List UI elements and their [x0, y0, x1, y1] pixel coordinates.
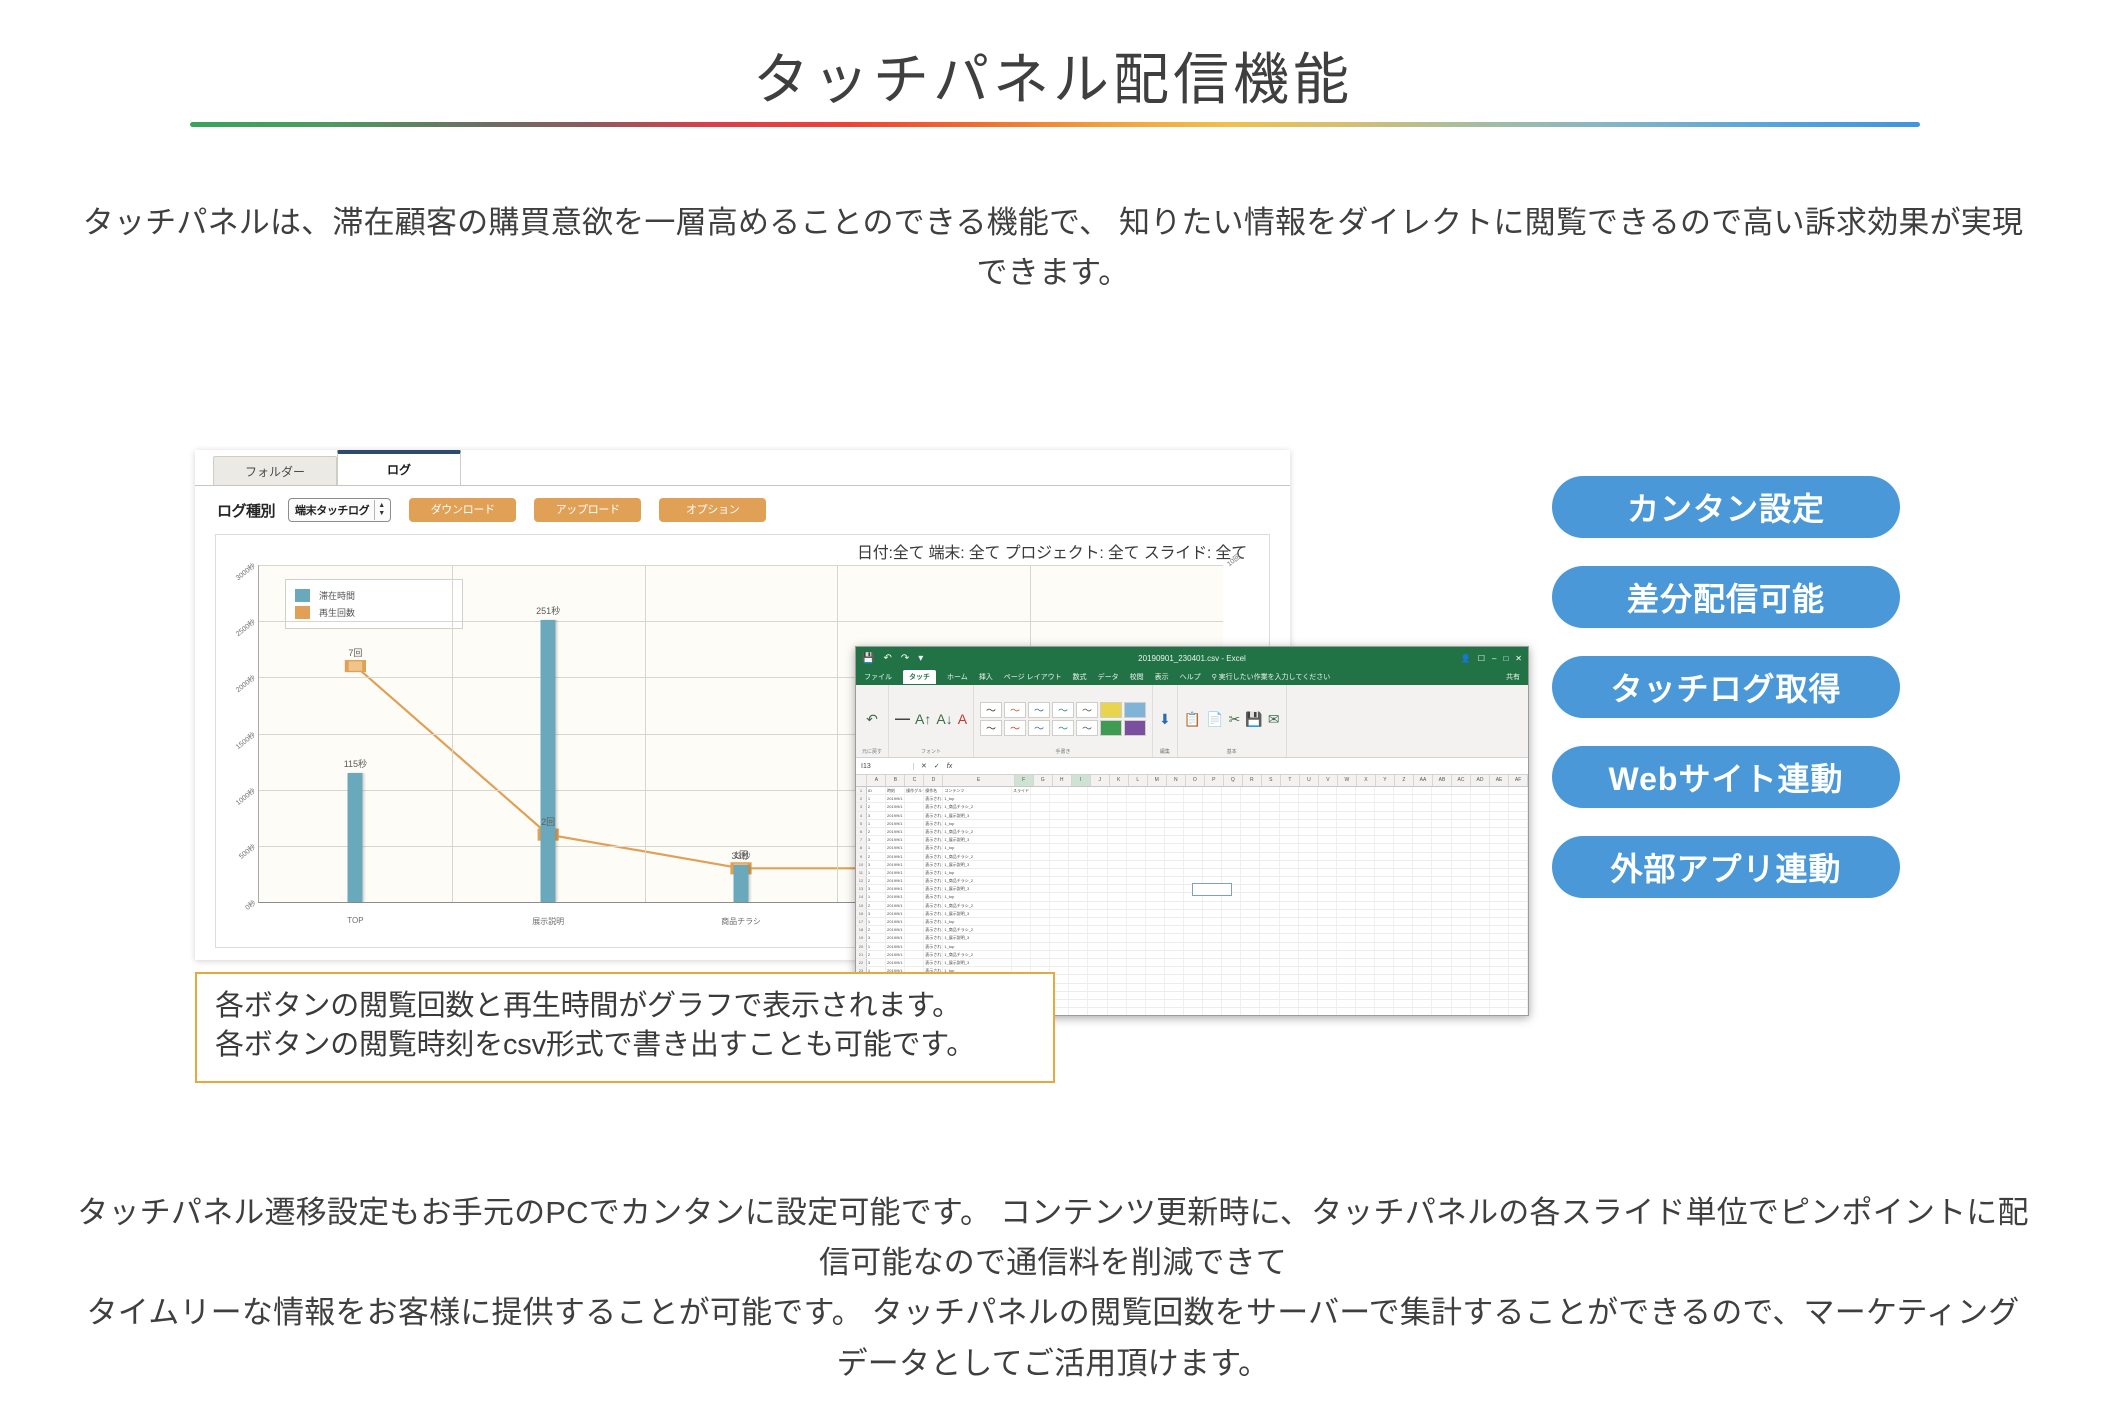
excel-cell[interactable]: [1012, 861, 1031, 868]
excel-cell[interactable]: [1318, 951, 1337, 958]
excel-cell[interactable]: [1280, 902, 1299, 909]
excel-cell[interactable]: [1260, 910, 1279, 917]
excel-cell[interactable]: [1127, 975, 1146, 982]
excel-cell[interactable]: 表示される Touch panel_etcpath000_1: [924, 918, 943, 925]
excel-cell[interactable]: [1108, 967, 1127, 974]
excel-cell[interactable]: 2019/9/1 10:31:52: [886, 885, 905, 892]
excel-cell[interactable]: [1509, 992, 1528, 999]
excel-ribbon-tab[interactable]: タッチ: [903, 670, 936, 684]
excel-cell[interactable]: [1394, 910, 1413, 917]
excel-cell[interactable]: [1299, 795, 1318, 802]
excel-cell[interactable]: [1509, 893, 1528, 900]
excel-cell[interactable]: [1184, 795, 1203, 802]
excel-cell[interactable]: [1280, 992, 1299, 999]
excel-cell[interactable]: [1471, 992, 1490, 999]
excel-cell[interactable]: [1356, 803, 1375, 810]
excel-cell[interactable]: [1318, 934, 1337, 941]
excel-cell[interactable]: 1_top: [943, 918, 1012, 925]
font-name-field[interactable]: ▬▬▬: [895, 716, 910, 722]
excel-cell[interactable]: [1127, 877, 1146, 884]
excel-cell[interactable]: [1413, 918, 1432, 925]
excel-column-header[interactable]: K: [1110, 775, 1129, 786]
excel-cell[interactable]: [905, 877, 924, 884]
excel-cell[interactable]: [1069, 926, 1088, 933]
excel-cell[interactable]: [1337, 1008, 1356, 1015]
excel-cell[interactable]: [905, 820, 924, 827]
excel-cell[interactable]: [1337, 975, 1356, 982]
font-grow-icon[interactable]: A↑: [915, 712, 931, 726]
excel-cell[interactable]: [1012, 869, 1031, 876]
excel-cell[interactable]: [1222, 812, 1241, 819]
excel-cell[interactable]: [1184, 828, 1203, 835]
excel-cell[interactable]: [1375, 951, 1394, 958]
excel-cell[interactable]: 1: [867, 869, 886, 876]
excel-column-header[interactable]: I: [1072, 775, 1091, 786]
excel-cell[interactable]: [1108, 861, 1127, 868]
excel-cell[interactable]: [1108, 926, 1127, 933]
excel-cell[interactable]: 1: [867, 893, 886, 900]
excel-cell[interactable]: [1471, 787, 1490, 794]
excel-cell[interactable]: [1394, 795, 1413, 802]
font-color-icon[interactable]: A: [958, 712, 967, 726]
excel-cell[interactable]: [1452, 984, 1471, 991]
excel-cell[interactable]: [1165, 902, 1184, 909]
excel-cell[interactable]: [1509, 820, 1528, 827]
excel-cell[interactable]: [1165, 877, 1184, 884]
excel-cell[interactable]: [1260, 893, 1279, 900]
excel-cell[interactable]: [1222, 934, 1241, 941]
excel-cell[interactable]: [1452, 885, 1471, 892]
excel-cell[interactable]: [1050, 877, 1069, 884]
excel-cell[interactable]: 操作グループ: [905, 787, 924, 794]
excel-cell[interactable]: 1_top: [943, 844, 1012, 851]
excel-cell[interactable]: 1_展示説明_3: [943, 836, 1012, 843]
excel-cell[interactable]: [1318, 918, 1337, 925]
excel-cell[interactable]: [1375, 893, 1394, 900]
excel-cell[interactable]: [1031, 926, 1050, 933]
excel-cell[interactable]: [1356, 820, 1375, 827]
excel-cell[interactable]: [1375, 828, 1394, 835]
excel-cell[interactable]: [1413, 828, 1432, 835]
excel-cell[interactable]: [1088, 893, 1107, 900]
excel-cell[interactable]: [1222, 795, 1241, 802]
excel-cell[interactable]: [1203, 943, 1222, 950]
excel-cell[interactable]: [1184, 926, 1203, 933]
ink-pen-swatch[interactable]: [1100, 720, 1122, 736]
excel-cell[interactable]: [905, 943, 924, 950]
excel-cell[interactable]: [1375, 877, 1394, 884]
excel-cell[interactable]: [1299, 787, 1318, 794]
excel-cell[interactable]: [1241, 795, 1260, 802]
excel-row-header[interactable]: 12: [856, 877, 867, 884]
excel-cell[interactable]: [1509, 828, 1528, 835]
excel-cell[interactable]: [1375, 853, 1394, 860]
excel-cell[interactable]: [1260, 1008, 1279, 1015]
excel-cell[interactable]: [1108, 902, 1127, 909]
excel-cell[interactable]: [1241, 951, 1260, 958]
excel-cell[interactable]: [1069, 934, 1088, 941]
excel-cell[interactable]: [1413, 836, 1432, 843]
excel-row-header[interactable]: 20: [856, 943, 867, 950]
excel-column-header[interactable]: C: [905, 775, 924, 786]
excel-cell[interactable]: [1108, 934, 1127, 941]
excel-cell[interactable]: [1299, 885, 1318, 892]
excel-cell[interactable]: [1413, 934, 1432, 941]
excel-cell[interactable]: [1260, 926, 1279, 933]
excel-cell[interactable]: [1165, 984, 1184, 991]
excel-cell[interactable]: 2019/9/1 9:41:00: [886, 820, 905, 827]
excel-cell[interactable]: [1280, 1008, 1299, 1015]
excel-cell[interactable]: [1413, 787, 1432, 794]
excel-cell[interactable]: [1184, 910, 1203, 917]
excel-cell[interactable]: 1_商品チラシ_2: [943, 951, 1012, 958]
excel-row[interactable]: 322019/9/1 10:31:45表示される Touch panel_etc…: [856, 803, 1528, 811]
excel-cell[interactable]: コンテンツ: [943, 787, 1012, 794]
excel-cell[interactable]: [1222, 836, 1241, 843]
excel-cell[interactable]: [1222, 853, 1241, 860]
excel-cell[interactable]: [1031, 853, 1050, 860]
excel-cell[interactable]: [1050, 844, 1069, 851]
ink-pen-swatch[interactable]: 〜: [1052, 702, 1074, 718]
excel-cell[interactable]: [1318, 820, 1337, 827]
excel-cell[interactable]: [1108, 820, 1127, 827]
excel-cell[interactable]: [1241, 844, 1260, 851]
excel-cell[interactable]: [1509, 795, 1528, 802]
excel-tell-me-box[interactable]: ⚲ 実行したい作業を入力してください: [1212, 672, 1331, 682]
excel-row-header[interactable]: 3: [856, 803, 867, 810]
excel-cell[interactable]: [1127, 812, 1146, 819]
excel-cell[interactable]: 2: [867, 853, 886, 860]
excel-cell[interactable]: [1337, 853, 1356, 860]
excel-cell[interactable]: [1318, 967, 1337, 974]
excel-cell[interactable]: 2019/9/1 9:41:00: [886, 918, 905, 925]
excel-cell[interactable]: ID: [867, 787, 886, 794]
excel-cell[interactable]: [1394, 959, 1413, 966]
excel-cell[interactable]: [1069, 820, 1088, 827]
excel-row-header[interactable]: 6: [856, 828, 867, 835]
excel-cell[interactable]: [1088, 861, 1107, 868]
excel-cell[interactable]: [1394, 902, 1413, 909]
excel-cell[interactable]: [1318, 828, 1337, 835]
excel-cell[interactable]: [1069, 992, 1088, 999]
excel-cell[interactable]: [1471, 795, 1490, 802]
excel-cell[interactable]: 2019/9/1 9:41:00: [886, 943, 905, 950]
excel-cell[interactable]: [1375, 787, 1394, 794]
excel-cell[interactable]: 2: [867, 877, 886, 884]
excel-cell[interactable]: [1318, 836, 1337, 843]
excel-cell[interactable]: [1050, 902, 1069, 909]
excel-cell[interactable]: [1356, 992, 1375, 999]
excel-cell[interactable]: [1069, 869, 1088, 876]
excel-cell[interactable]: [905, 812, 924, 819]
excel-cell[interactable]: [1299, 959, 1318, 966]
excel-cell[interactable]: [1165, 1008, 1184, 1015]
excel-row[interactable]: 922019/9/1 10:31:45表示される Touch panel_etc…: [856, 853, 1528, 861]
excel-name-box[interactable]: I13: [861, 763, 914, 770]
excel-cell[interactable]: [1031, 795, 1050, 802]
excel-cell[interactable]: [1222, 951, 1241, 958]
excel-ribbon-tab[interactable]: ページ レイアウト: [1004, 672, 1062, 682]
excel-cell[interactable]: [1108, 803, 1127, 810]
excel-cell[interactable]: [1088, 787, 1107, 794]
excel-cell[interactable]: [1012, 828, 1031, 835]
excel-cell[interactable]: [1318, 902, 1337, 909]
excel-cell[interactable]: [1184, 844, 1203, 851]
excel-cell[interactable]: [1299, 812, 1318, 819]
excel-cell[interactable]: 2019/9/1 10:31:45: [886, 853, 905, 860]
excel-cell[interactable]: [1299, 1000, 1318, 1007]
excel-cell[interactable]: 表示される Touch panel_etcpath000_1: [924, 893, 943, 900]
excel-cell[interactable]: [1146, 1008, 1165, 1015]
excel-row-header[interactable]: 8: [856, 844, 867, 851]
excel-column-header[interactable]: M: [1148, 775, 1167, 786]
ink-pen-swatch[interactable]: 〜: [980, 702, 1002, 718]
excel-cell[interactable]: [1471, 951, 1490, 958]
excel-cell[interactable]: [1375, 812, 1394, 819]
excel-cell[interactable]: [1069, 828, 1088, 835]
excel-cell[interactable]: 表示される Touch panel_etcpath000_1: [924, 951, 943, 958]
excel-cell[interactable]: [1413, 951, 1432, 958]
excel-cell[interactable]: [1260, 820, 1279, 827]
excel-cell[interactable]: [1318, 1008, 1337, 1015]
excel-column-header[interactable]: Q: [1224, 775, 1243, 786]
excel-cell[interactable]: [1452, 820, 1471, 827]
excel-cell[interactable]: [1471, 926, 1490, 933]
excel-cell[interactable]: [1318, 1000, 1337, 1007]
excel-cell[interactable]: [1509, 803, 1528, 810]
excel-cell[interactable]: [1108, 910, 1127, 917]
excel-cell[interactable]: [1471, 803, 1490, 810]
excel-cell[interactable]: [1050, 910, 1069, 917]
excel-cell[interactable]: [1203, 967, 1222, 974]
excel-cell[interactable]: [1432, 967, 1451, 974]
excel-cell[interactable]: [905, 828, 924, 835]
excel-cell[interactable]: [1337, 877, 1356, 884]
excel-cell[interactable]: [1146, 943, 1165, 950]
ink-pen-swatch[interactable]: 〜: [1076, 720, 1098, 736]
feature-pill-touch-log[interactable]: タッチログ取得: [1552, 656, 1900, 718]
excel-row-header[interactable]: 7: [856, 836, 867, 843]
excel-cell[interactable]: [1280, 844, 1299, 851]
excel-cell[interactable]: [1394, 861, 1413, 868]
excel-cell[interactable]: [1394, 803, 1413, 810]
excel-cell[interactable]: [1050, 803, 1069, 810]
excel-cell[interactable]: 1_top: [943, 893, 1012, 900]
excel-cell[interactable]: [1356, 926, 1375, 933]
excel-cell[interactable]: [1452, 934, 1471, 941]
excel-cell[interactable]: [1394, 926, 1413, 933]
excel-cell[interactable]: [1127, 795, 1146, 802]
excel-cell[interactable]: [1509, 984, 1528, 991]
excel-cell[interactable]: [905, 951, 924, 958]
excel-cell[interactable]: [1356, 893, 1375, 900]
excel-cell[interactable]: [1318, 910, 1337, 917]
excel-cell[interactable]: [1012, 902, 1031, 909]
excel-cell[interactable]: [1394, 992, 1413, 999]
excel-cell[interactable]: 1_展示説明_3: [943, 959, 1012, 966]
excel-cell[interactable]: [1413, 992, 1432, 999]
excel-cell[interactable]: [1413, 844, 1432, 851]
excel-cell[interactable]: [1413, 1008, 1432, 1015]
excel-cell[interactable]: [1031, 934, 1050, 941]
excel-cell[interactable]: [1490, 1008, 1509, 1015]
excel-cell[interactable]: [1452, 959, 1471, 966]
excel-cell[interactable]: [1471, 836, 1490, 843]
excel-cell[interactable]: [1184, 820, 1203, 827]
excel-cell[interactable]: [1452, 836, 1471, 843]
excel-cell[interactable]: [1432, 844, 1451, 851]
excel-cell[interactable]: [1146, 967, 1165, 974]
excel-row-header[interactable]: 15: [856, 902, 867, 909]
excel-cell[interactable]: [1222, 926, 1241, 933]
excel-cell[interactable]: [1241, 926, 1260, 933]
excel-cell[interactable]: [1299, 869, 1318, 876]
excel-cell[interactable]: [1108, 795, 1127, 802]
excel-cell[interactable]: [1165, 803, 1184, 810]
excel-cell[interactable]: [1050, 853, 1069, 860]
excel-cell[interactable]: [1184, 836, 1203, 843]
excel-cell[interactable]: [1509, 926, 1528, 933]
excel-cell[interactable]: 3: [867, 959, 886, 966]
excel-cell[interactable]: [1452, 1008, 1471, 1015]
excel-cell[interactable]: [1413, 975, 1432, 982]
excel-cell[interactable]: 1_展示説明_3: [943, 812, 1012, 819]
excel-cell[interactable]: [1108, 836, 1127, 843]
excel-column-header[interactable]: H: [1053, 775, 1072, 786]
excel-cell[interactable]: [1280, 893, 1299, 900]
excel-cell[interactable]: [1222, 869, 1241, 876]
excel-cell[interactable]: [1127, 926, 1146, 933]
excel-cell[interactable]: [1069, 836, 1088, 843]
excel-cell[interactable]: [1260, 943, 1279, 950]
excel-cell[interactable]: [1471, 934, 1490, 941]
excel-cell[interactable]: [1146, 820, 1165, 827]
excel-cell[interactable]: [1509, 975, 1528, 982]
excel-cell[interactable]: [1471, 1008, 1490, 1015]
excel-cell[interactable]: [1318, 861, 1337, 868]
excel-cell[interactable]: [1108, 984, 1127, 991]
excel-cell[interactable]: [1165, 861, 1184, 868]
excel-cell[interactable]: 2019/9/1 10:31:45: [886, 877, 905, 884]
excel-cell[interactable]: [1318, 787, 1337, 794]
excel-cell[interactable]: [1165, 853, 1184, 860]
excel-cell[interactable]: [1088, 992, 1107, 999]
excel-cell[interactable]: [1490, 984, 1509, 991]
ink-pen-swatch[interactable]: [1100, 702, 1122, 718]
excel-cell[interactable]: [1280, 1000, 1299, 1007]
excel-cell[interactable]: [1318, 926, 1337, 933]
excel-cell[interactable]: [1490, 877, 1509, 884]
excel-cell[interactable]: [1413, 803, 1432, 810]
excel-cell[interactable]: 1_展示説明_3: [943, 910, 1012, 917]
excel-cell[interactable]: [1241, 828, 1260, 835]
excel-cell[interactable]: [1050, 951, 1069, 958]
excel-cell[interactable]: [1509, 869, 1528, 876]
excel-column-header[interactable]: AA: [1414, 775, 1433, 786]
excel-cell[interactable]: [1337, 893, 1356, 900]
excel-cell[interactable]: [1509, 861, 1528, 868]
excel-cell[interactable]: [1127, 787, 1146, 794]
excel-cell[interactable]: [1356, 861, 1375, 868]
excel-cell[interactable]: [1241, 959, 1260, 966]
excel-cell[interactable]: 2019/9/1 10:31:45: [886, 926, 905, 933]
excel-cell[interactable]: 1_商品チラシ_2: [943, 902, 1012, 909]
excel-cell[interactable]: [1394, 844, 1413, 851]
excel-cell[interactable]: [1490, 959, 1509, 966]
excel-cell[interactable]: [1452, 992, 1471, 999]
excel-cell[interactable]: [1069, 795, 1088, 802]
excel-cell[interactable]: [1509, 959, 1528, 966]
excel-cell[interactable]: [1452, 812, 1471, 819]
excel-cell[interactable]: [1299, 967, 1318, 974]
excel-cell[interactable]: [1375, 934, 1394, 941]
excel-row[interactable]: 1522019/9/1 10:31:45表示される Touch panel_et…: [856, 902, 1528, 910]
excel-cell[interactable]: [1280, 951, 1299, 958]
excel-cell[interactable]: [1260, 861, 1279, 868]
excel-cell[interactable]: [1337, 869, 1356, 876]
excel-cell[interactable]: [1375, 820, 1394, 827]
excel-cell[interactable]: [1356, 828, 1375, 835]
excel-cell[interactable]: [1069, 910, 1088, 917]
excel-cell[interactable]: [1146, 975, 1165, 982]
excel-cell[interactable]: [1432, 1000, 1451, 1007]
feature-pill-differential-delivery[interactable]: 差分配信可能: [1552, 566, 1900, 628]
excel-cell[interactable]: [1031, 918, 1050, 925]
excel-cell[interactable]: [1146, 844, 1165, 851]
excel-cell[interactable]: [1050, 820, 1069, 827]
excel-ribbon-tab[interactable]: ヘルプ: [1180, 672, 1201, 682]
excel-cell[interactable]: [1413, 861, 1432, 868]
excel-cell[interactable]: [1184, 959, 1203, 966]
excel-cell[interactable]: [1241, 893, 1260, 900]
excel-cell[interactable]: [1241, 992, 1260, 999]
excel-cell[interactable]: [1318, 812, 1337, 819]
excel-cell[interactable]: [1241, 1000, 1260, 1007]
excel-row[interactable]: 1112019/9/1 9:41:00表示される Touch panel_etc…: [856, 869, 1528, 877]
excel-cell[interactable]: 2: [867, 803, 886, 810]
excel-cell[interactable]: [1375, 984, 1394, 991]
excel-cell[interactable]: 1_top: [943, 869, 1012, 876]
excel-cell[interactable]: 1: [867, 943, 886, 950]
excel-cell[interactable]: 3: [867, 812, 886, 819]
excel-cell[interactable]: [1241, 820, 1260, 827]
excel-cell[interactable]: [1299, 877, 1318, 884]
excel-cell[interactable]: [1337, 943, 1356, 950]
excel-cell[interactable]: [1127, 885, 1146, 892]
excel-cell[interactable]: [1069, 1008, 1088, 1015]
excel-cell[interactable]: [1490, 902, 1509, 909]
excel-cell[interactable]: [1375, 902, 1394, 909]
excel-cell[interactable]: [1356, 967, 1375, 974]
ink-pen-swatch[interactable]: [1124, 702, 1146, 718]
excel-cell[interactable]: [1184, 869, 1203, 876]
excel-cell[interactable]: [1127, 844, 1146, 851]
excel-cell[interactable]: [1146, 934, 1165, 941]
excel-row-header[interactable]: 17: [856, 918, 867, 925]
excel-cell[interactable]: [1241, 885, 1260, 892]
excel-cell[interactable]: [1031, 861, 1050, 868]
excel-cell[interactable]: [1050, 918, 1069, 925]
excel-cell[interactable]: 2019/9/1 10:31:45: [886, 803, 905, 810]
excel-cell[interactable]: [1203, 820, 1222, 827]
excel-cell[interactable]: [1280, 910, 1299, 917]
excel-cell[interactable]: [1222, 861, 1241, 868]
tab-log[interactable]: ログ: [337, 450, 461, 486]
excel-cell[interactable]: [1184, 975, 1203, 982]
excel-cell[interactable]: [1280, 795, 1299, 802]
excel-cell[interactable]: [1337, 795, 1356, 802]
excel-cell[interactable]: [1222, 992, 1241, 999]
